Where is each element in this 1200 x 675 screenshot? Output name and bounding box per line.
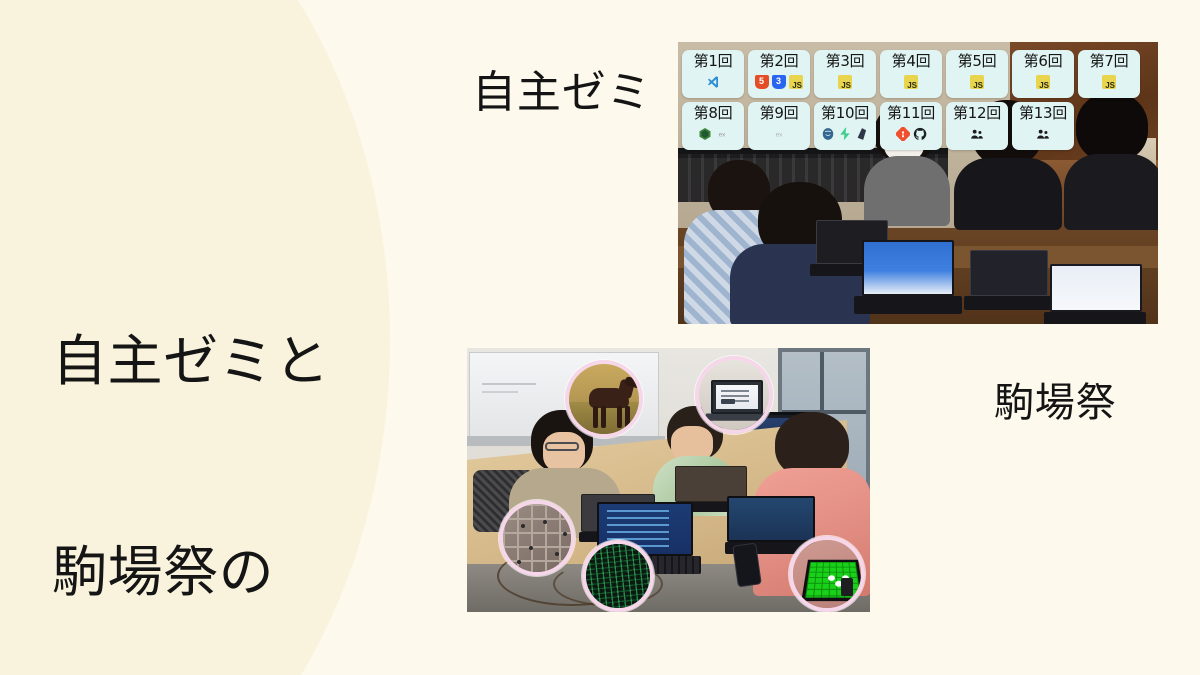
session-card-title: 第1回 [694, 53, 733, 70]
session-card-title: 第13回 [1019, 105, 1067, 122]
session-card-title: 第9回 [760, 105, 799, 122]
express-icon: ex [772, 127, 786, 141]
session-card-icons [838, 74, 852, 90]
html5-icon [755, 75, 769, 89]
session-card-icons [706, 74, 720, 90]
session-card-icons [821, 126, 869, 142]
laptop-screen [970, 250, 1048, 296]
express-icon: ex [715, 127, 729, 141]
session-card-icons: ex [698, 126, 729, 142]
laptop-lid [711, 380, 763, 414]
maze-entity [563, 532, 567, 536]
people-icon [1036, 127, 1050, 141]
postgresql-icon [821, 127, 835, 141]
bubble-image [503, 504, 571, 572]
session-card-title: 第4回 [892, 53, 931, 70]
person-body [1064, 154, 1158, 230]
session-card-icons [1102, 74, 1116, 90]
laptop-screen [727, 496, 815, 542]
session-card-icons: ex [772, 126, 786, 142]
css3-icon [772, 75, 786, 89]
javascript-icon [904, 75, 918, 89]
terminal-code-rain [582, 540, 654, 612]
bubble-image [699, 360, 769, 430]
nodejs-icon [698, 127, 712, 141]
session-card-7[interactable]: 第7回 [1078, 50, 1140, 98]
maze-entity [517, 560, 521, 564]
session-card-title: 第12回 [953, 105, 1001, 122]
horse-leg [625, 406, 630, 428]
person-body [954, 158, 1062, 230]
laptop-keyboard [964, 296, 1052, 310]
session-card-12[interactable]: 第12回 [946, 102, 1008, 150]
session-card-6[interactable]: 第6回 [1012, 50, 1074, 98]
session-card-title: 第10回 [821, 105, 869, 122]
matrix-terminal-bubble [582, 540, 654, 612]
session-card-title: 第5回 [958, 53, 997, 70]
maze-walls [503, 504, 571, 572]
maze-entity [529, 546, 533, 550]
svg-text:ex: ex [718, 132, 726, 139]
whiteboard-writing [482, 383, 536, 385]
session-card-row-1: 第1回 第2回 第3回 [682, 50, 1140, 98]
session-card-icons [896, 126, 927, 142]
session-card-2[interactable]: 第2回 [748, 50, 810, 98]
svg-text:ex: ex [776, 132, 784, 139]
laptop-screen [1050, 264, 1142, 312]
github-icon [913, 127, 927, 141]
javascript-icon [789, 75, 803, 89]
maze-entity [543, 520, 547, 524]
section-label-komabasai: 駒場祭 [994, 370, 1116, 428]
laptop-keyboard [1044, 312, 1146, 324]
session-card-icons [970, 126, 984, 142]
bubble-image [586, 544, 650, 608]
seminar-classroom-photo: 第1回 第2回 第3回 [678, 42, 1158, 324]
javascript-icon [1036, 75, 1050, 89]
section-label-jishu-zemi: 自主ゼミ [472, 56, 652, 120]
laptop-2 [854, 240, 954, 316]
seminar-session-card-grid: 第1回 第2回 第3回 [682, 50, 1140, 150]
person-body [864, 156, 950, 226]
session-card-title: 第8回 [694, 105, 733, 122]
session-card-10[interactable]: 第10回 [814, 102, 876, 150]
presentation-slide: 自主ゼミと 駒場祭の キックオフ をしました 自主ゼミ 駒場祭 [0, 0, 1200, 675]
session-card-1[interactable]: 第1回 [682, 50, 744, 98]
session-card-row-2: 第8回 ex 第9回 ex [682, 102, 1140, 150]
maze-entity [555, 552, 559, 556]
device-edge [841, 578, 853, 596]
session-card-title: 第2回 [760, 53, 799, 70]
bubble-image [793, 540, 861, 608]
people-icon [970, 127, 984, 141]
supabase-icon [838, 127, 852, 141]
laptop-3 [964, 250, 1048, 312]
screen-button [721, 399, 735, 404]
game-stone [828, 575, 835, 581]
laptop-keyboard [704, 413, 771, 420]
othello-board-bubble [789, 536, 865, 612]
laptop-screen [862, 240, 954, 296]
session-card-11[interactable]: 第11回 [880, 102, 942, 150]
prisma-icon [855, 127, 869, 141]
session-card-icons [970, 74, 984, 90]
session-card-title: 第7回 [1090, 53, 1129, 70]
vscode-icon [706, 75, 720, 89]
headline-line-1: 自主ゼミと [52, 326, 330, 396]
javascript-icon [838, 75, 852, 89]
laptop-keyboard [854, 296, 962, 314]
session-card-3[interactable]: 第3回 [814, 50, 876, 98]
javascript-icon [1102, 75, 1116, 89]
maze-game-bubble [499, 500, 575, 576]
person-face [543, 432, 585, 472]
git-icon [896, 127, 910, 141]
horse-leg [593, 406, 598, 428]
bubble-image [569, 364, 639, 434]
session-card-icons [755, 74, 803, 90]
eyeglasses [545, 442, 579, 451]
session-card-9[interactable]: 第9回 ex [748, 102, 810, 150]
javascript-icon [970, 75, 984, 89]
headline-line-2: 駒場祭の [52, 537, 330, 607]
maze-entity [521, 524, 525, 528]
session-card-icons [904, 74, 918, 90]
laptop-screen [716, 385, 758, 409]
horse-leg [617, 406, 622, 428]
page-title: 自主ゼミと 駒場祭の キックオフ をしました [52, 185, 330, 675]
screen-text-lines [721, 390, 749, 392]
session-card-icons [1036, 74, 1050, 90]
laptop-screen-bubble [695, 356, 773, 434]
whiteboard-writing [482, 391, 518, 393]
session-card-title: 第11回 [887, 105, 935, 122]
session-card-4[interactable]: 第4回 [880, 50, 942, 98]
horse-leg [601, 406, 606, 428]
session-card-title: 第6回 [1024, 53, 1063, 70]
session-card-title: 第3回 [826, 53, 865, 70]
horse-project-bubble [565, 360, 643, 438]
laptop-4 [1044, 264, 1140, 324]
session-card-8[interactable]: 第8回 ex [682, 102, 744, 150]
session-card-5[interactable]: 第5回 [946, 50, 1008, 98]
session-card-13[interactable]: 第13回 [1012, 102, 1074, 150]
othello-board [801, 560, 864, 601]
komabasai-meeting-photo [467, 348, 870, 612]
session-card-icons [1036, 126, 1050, 142]
